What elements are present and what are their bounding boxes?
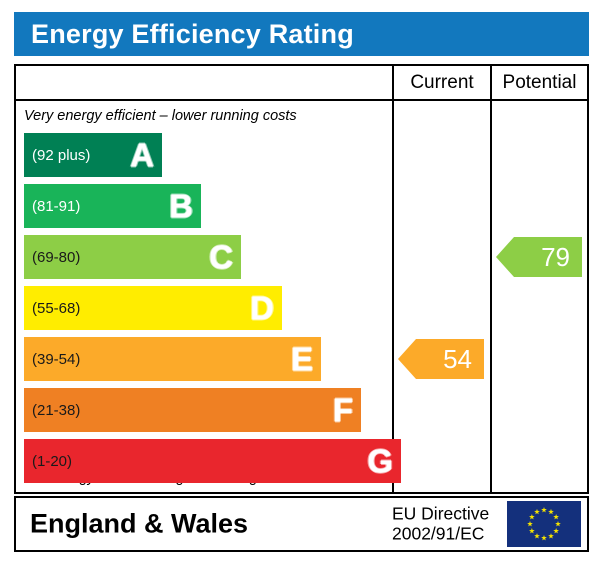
- eu-directive-text: EU Directive 2002/91/EC: [392, 504, 489, 543]
- potential-rating-value: 79: [541, 244, 582, 270]
- column-divider-potential: [490, 101, 492, 492]
- current-rating-value: 54: [443, 346, 484, 372]
- band-range-b: (81-91): [24, 198, 80, 215]
- band-row-b: (81-91) B: [24, 184, 201, 228]
- band-range-d: (55-68): [24, 300, 80, 317]
- band-row-e: (39-54) E: [24, 337, 321, 381]
- epc-certificate: Energy Efficiency Rating Current Potenti…: [0, 0, 603, 564]
- column-header-potential: Potential: [490, 66, 587, 99]
- footer-bar: England & Wales EU Directive 2002/91/EC: [14, 496, 589, 552]
- band-row-d: (55-68) D: [24, 286, 282, 330]
- band-range-a: (92 plus): [24, 147, 90, 164]
- band-range-g: (1-20): [24, 453, 72, 470]
- band-letter-a: A: [130, 139, 154, 172]
- band-letter-e: E: [291, 343, 313, 376]
- caption-very-efficient: Very energy efficient – lower running co…: [24, 108, 384, 124]
- band-letter-f: F: [333, 394, 353, 427]
- band-letter-c: C: [209, 241, 233, 274]
- column-header-current: Current: [392, 66, 490, 99]
- band-row-f: (21-38) F: [24, 388, 361, 432]
- column-header-band: [16, 66, 392, 99]
- eu-directive-line1: EU Directive: [392, 504, 489, 524]
- region-label: England & Wales: [30, 509, 248, 540]
- band-letter-b: B: [169, 190, 193, 223]
- column-divider-current: [392, 101, 394, 492]
- band-range-f: (21-38): [24, 402, 80, 419]
- band-letter-d: D: [250, 292, 274, 325]
- page-title: Energy Efficiency Rating: [14, 19, 354, 50]
- table-header-row: Current Potential: [16, 66, 587, 101]
- band-range-e: (39-54): [24, 351, 80, 368]
- band-row-g: (1-20) G: [24, 439, 401, 483]
- rating-table: Current Potential Very energy efficient …: [14, 64, 589, 494]
- eu-flag-icon: [507, 501, 581, 547]
- potential-rating-arrow: 79: [496, 237, 582, 277]
- current-rating-arrow: 54: [398, 339, 484, 379]
- eu-directive-line2: 2002/91/EC: [392, 524, 489, 544]
- band-row-a: (92 plus) A: [24, 133, 162, 177]
- band-range-c: (69-80): [24, 249, 80, 266]
- band-letter-g: G: [367, 445, 393, 478]
- chart-title-banner: Energy Efficiency Rating: [14, 12, 589, 56]
- band-row-c: (69-80) C: [24, 235, 241, 279]
